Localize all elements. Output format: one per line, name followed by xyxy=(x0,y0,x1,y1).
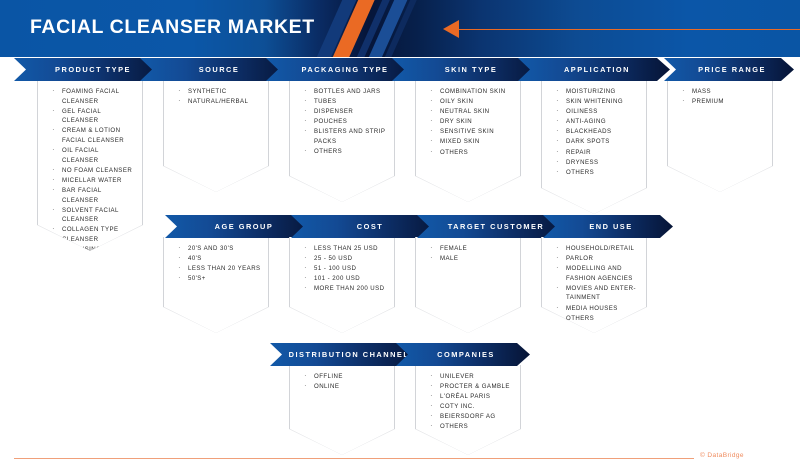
panel-body-skin-type: COMBINATION SKIN OILY SKIN NEUTRAL SKIN … xyxy=(415,80,521,202)
panel-title: PRODUCT TYPE xyxy=(49,65,131,74)
list-item: OILY SKIN xyxy=(440,97,514,107)
panel-body-age-group: 20'S AND 30'S 40'S LESS THAN 20 YEARS 50… xyxy=(163,237,269,333)
panel-body-application: MOISTURIZING SKIN WHITENING OILINESS ANT… xyxy=(541,80,647,214)
list-item: SENSITIVE SKIN xyxy=(440,127,514,137)
panel-body-target-customer: FEMALE MALE xyxy=(415,237,521,333)
list-item: MIXED SKIN xyxy=(440,137,514,147)
list-item: SYNTHETIC xyxy=(188,87,262,97)
list-item: NO FOAM CLEANSER xyxy=(62,166,136,176)
list-item: MASS xyxy=(692,87,766,97)
list-companies: UNILEVER PROCTER & GAMBLE L'ORÉAL PARIS … xyxy=(440,372,514,433)
list-item: DRY SKIN xyxy=(440,117,514,127)
list-item: PARLOR xyxy=(566,254,640,264)
list-age-group: 20'S AND 30'S 40'S LESS THAN 20 YEARS 50… xyxy=(188,244,262,284)
panel-body-price-range: MASS PREMIUM xyxy=(667,80,773,192)
list-item: UNILEVER xyxy=(440,372,514,382)
list-price-range: MASS PREMIUM xyxy=(692,87,766,107)
header-packaging-type[interactable]: PACKAGING TYPE xyxy=(266,58,418,81)
panel-title: PRICE RANGE xyxy=(692,65,766,74)
list-item: ANTI-AGING xyxy=(566,117,640,127)
list-item: OTHERS xyxy=(440,422,514,432)
list-item: 101 - 200 USD xyxy=(314,274,388,284)
header-target-customer[interactable]: TARGET CUSTOMER xyxy=(417,215,569,238)
panel-title: SKIN TYPE xyxy=(439,65,498,74)
list-item: MOVIES AND ENTER-TAINMENT xyxy=(566,284,640,303)
list-item: POUCHES xyxy=(314,117,388,127)
footer-rule xyxy=(14,458,694,459)
list-item: REPAIR xyxy=(566,148,640,158)
header-application[interactable]: APPLICATION xyxy=(518,58,670,81)
list-item: PROCTER & GAMBLE xyxy=(440,382,514,392)
list-item: COTY INC. xyxy=(440,402,514,412)
list-item: MALE xyxy=(440,254,514,264)
panel-body-product-type: FOAMING FACIAL CLEANSER GEL FACIAL CLEAN… xyxy=(37,80,143,251)
panel-body-end-use: HOUSEHOLD/RETAIL PARLOR MODELLING AND FA… xyxy=(541,237,647,333)
list-item: MICELLAR WATER xyxy=(62,176,136,186)
panel-title: PACKAGING TYPE xyxy=(296,65,389,74)
list-item: PREMIUM xyxy=(692,97,766,107)
list-item: OTHERS xyxy=(566,168,640,178)
panel-title: DISTRIBUTION CHANNEL xyxy=(283,350,410,359)
header-cost[interactable]: COST xyxy=(291,215,443,238)
list-item: SKIN WHITENING xyxy=(566,97,640,107)
list-source: SYNTHETIC NATURAL/HERBAL xyxy=(188,87,262,107)
panel-title: COST xyxy=(351,222,384,231)
list-item: OTHERS xyxy=(566,314,640,324)
list-skin-type: COMBINATION SKIN OILY SKIN NEUTRAL SKIN … xyxy=(440,87,514,158)
list-item: BOTTLES AND JARS xyxy=(314,87,388,97)
panel-title: APPLICATION xyxy=(558,65,630,74)
list-item: SOLVENT FACIAL CLEANSER xyxy=(62,206,136,225)
list-item: 40'S xyxy=(188,254,262,264)
list-item: BLACKHEADS xyxy=(566,127,640,137)
header-rule xyxy=(459,29,800,30)
list-distribution-channel: OFFLINE ONLINE xyxy=(314,372,388,392)
list-item: OTHERS xyxy=(62,265,136,275)
list-item: BEIERSDORF AG xyxy=(440,412,514,422)
panel-title: END USE xyxy=(583,222,632,231)
list-item: ONLINE xyxy=(314,382,388,392)
list-item: BLISTERS AND STRIP PACKS xyxy=(314,127,388,146)
list-item: LESS THAN 20 YEARS xyxy=(188,264,262,274)
list-item: NATURAL/HERBAL xyxy=(188,97,262,107)
infographic-page: FACIAL CLEANSER MARKET FOAMING FACIAL CL… xyxy=(0,0,800,473)
list-item: COMBINATION SKIN xyxy=(440,87,514,97)
panel-title: TARGET CUSTOMER xyxy=(442,222,545,231)
header-age-group[interactable]: AGE GROUP xyxy=(165,215,317,238)
list-end-use: HOUSEHOLD/RETAIL PARLOR MODELLING AND FA… xyxy=(566,244,640,324)
list-item: COLLAGEN TYPE CLEANSER xyxy=(62,225,136,244)
header-skin-type[interactable]: SKIN TYPE xyxy=(392,58,544,81)
list-packaging-type: BOTTLES AND JARS TUBES DISPENSER POUCHES… xyxy=(314,87,388,157)
panel-body-source: SYNTHETIC NATURAL/HERBAL xyxy=(163,80,269,192)
list-item: 20'S AND 30'S xyxy=(188,244,262,254)
left-arrow-icon xyxy=(443,20,459,38)
panel-title: AGE GROUP xyxy=(209,222,274,231)
list-item: CREAM & LOTION FACIAL CLEANSER xyxy=(62,126,136,145)
list-item: BAR FACIAL CLEANSER xyxy=(62,186,136,205)
list-target-customer: FEMALE MALE xyxy=(440,244,514,264)
header-product-type[interactable]: PRODUCT TYPE xyxy=(14,58,166,81)
copyright-label: © DataBridge xyxy=(700,452,744,459)
page-header: FACIAL CLEANSER MARKET xyxy=(0,0,800,57)
panel-title: SOURCE xyxy=(193,65,240,74)
list-application: MOISTURIZING SKIN WHITENING OILINESS ANT… xyxy=(566,87,640,178)
header-distribution-channel[interactable]: DISTRIBUTION CHANNEL xyxy=(270,343,422,366)
list-item: OTHERS xyxy=(440,148,514,158)
list-item: DRYNESS xyxy=(566,158,640,168)
panel-body-companies: UNILEVER PROCTER & GAMBLE L'ORÉAL PARIS … xyxy=(415,365,521,455)
list-cost: LESS THAN 25 USD 25 - 50 USD 51 - 100 US… xyxy=(314,244,388,294)
list-item: MODELLING AND FASHION AGENCIES xyxy=(566,264,640,283)
panel-body-packaging-type: BOTTLES AND JARS TUBES DISPENSER POUCHES… xyxy=(289,80,395,202)
list-item: GEL FACIAL CLEANSER xyxy=(62,107,136,126)
list-item: 50'S+ xyxy=(188,274,262,284)
list-item: OFFLINE xyxy=(314,372,388,382)
list-item: LESS THAN 25 USD xyxy=(314,244,388,254)
header-source[interactable]: SOURCE xyxy=(140,58,292,81)
header-end-use[interactable]: END USE xyxy=(543,215,673,238)
list-item: MOISTURIZING xyxy=(566,87,640,97)
list-product-type: FOAMING FACIAL CLEANSER GEL FACIAL CLEAN… xyxy=(62,87,136,275)
list-item: OILINESS xyxy=(566,107,640,117)
list-item: L'ORÉAL PARIS xyxy=(440,392,514,402)
header-price-range[interactable]: PRICE RANGE xyxy=(664,58,794,81)
list-item: DISPENSER xyxy=(314,107,388,117)
page-title: FACIAL CLEANSER MARKET xyxy=(30,16,315,39)
list-item: FEMALE xyxy=(440,244,514,254)
list-item: 25 - 50 USD xyxy=(314,254,388,264)
list-item: CLEANSING COTTON PADS xyxy=(62,245,136,264)
header-companies[interactable]: COMPANIES xyxy=(396,343,530,366)
list-item: MEDIA HOUSES xyxy=(566,304,640,314)
list-item: FOAMING FACIAL CLEANSER xyxy=(62,87,136,106)
list-item: 51 - 100 USD xyxy=(314,264,388,274)
list-item: NEUTRAL SKIN xyxy=(440,107,514,117)
list-item: OTHERS xyxy=(314,147,388,157)
list-item: OIL FACIAL CLEANSER xyxy=(62,146,136,165)
panel-title: COMPANIES xyxy=(431,350,495,359)
list-item: TUBES xyxy=(314,97,388,107)
panel-body-cost: LESS THAN 25 USD 25 - 50 USD 51 - 100 US… xyxy=(289,237,395,333)
list-item: DARK SPOTS xyxy=(566,137,640,147)
panel-body-distribution-channel: OFFLINE ONLINE xyxy=(289,365,395,455)
list-item: HOUSEHOLD/RETAIL xyxy=(566,244,640,254)
list-item: MORE THAN 200 USD xyxy=(314,284,388,294)
